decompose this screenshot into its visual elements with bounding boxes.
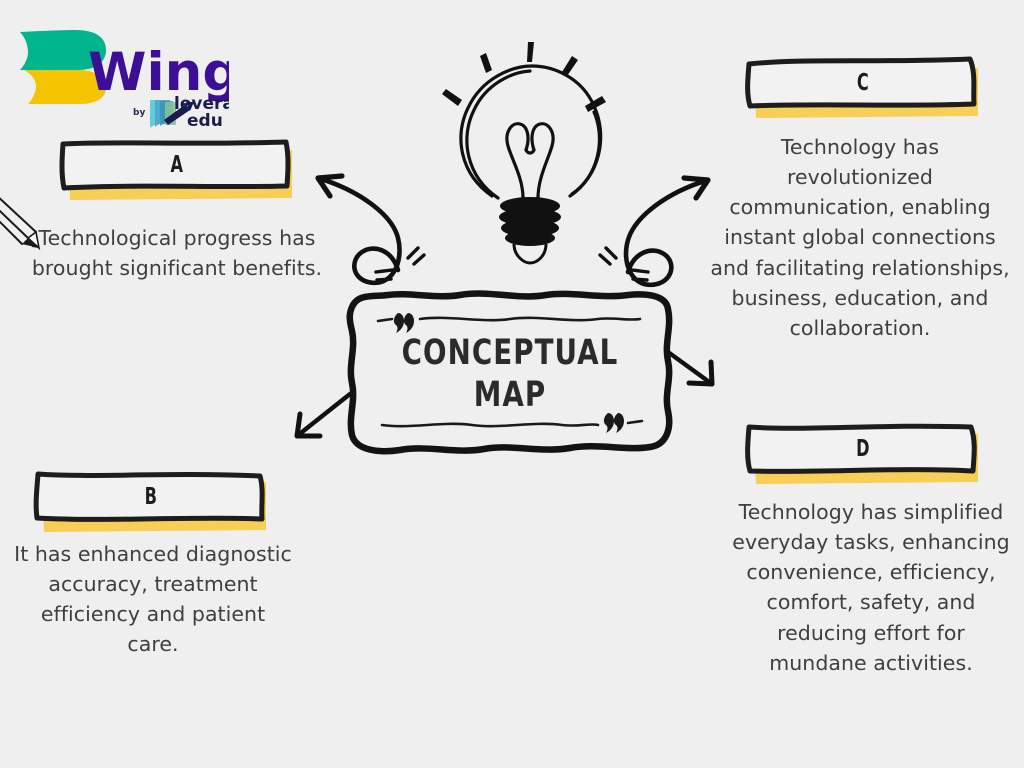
node-c-label: C (770, 56, 956, 112)
center-conceptual-map-node[interactable]: CONCEPTUAL MAP (340, 283, 680, 465)
wings-leverage-edu-logo: Wings by leverage edu (14, 24, 229, 134)
node-b-label: B (58, 470, 244, 526)
node-b-header-box[interactable]: B (32, 470, 270, 526)
node-d-label: D (770, 422, 956, 478)
center-title-line2: MAP (474, 374, 547, 416)
node-a-description: Technological progress has brought signi… (26, 223, 328, 283)
arrow-to-a-icon (318, 176, 400, 283)
node-d-description: Technology has simplified everyday tasks… (726, 497, 1016, 678)
center-title: CONCEPTUAL MAP (360, 283, 659, 465)
infographic-canvas: Wings by leverage edu (0, 0, 1024, 768)
node-b-description: It has enhanced diagnostic accuracy, tre… (14, 539, 292, 660)
lightbulb-idea-icon (420, 28, 640, 278)
node-c-header-box[interactable]: C (744, 56, 982, 112)
node-c-description: Technology has revolutionized communicat… (710, 132, 1010, 343)
node-a-label: A (84, 138, 270, 194)
node-a-header-box[interactable]: A (58, 138, 296, 194)
lightbulb-rays-icon (442, 42, 606, 112)
logo-by-label: by (133, 108, 145, 118)
center-title-line1: CONCEPTUAL (402, 332, 619, 374)
logo-subbrand-line2: edu (187, 111, 223, 131)
arrow-a-sparkle-icon (376, 248, 424, 280)
node-d-header-box[interactable]: D (744, 422, 982, 478)
